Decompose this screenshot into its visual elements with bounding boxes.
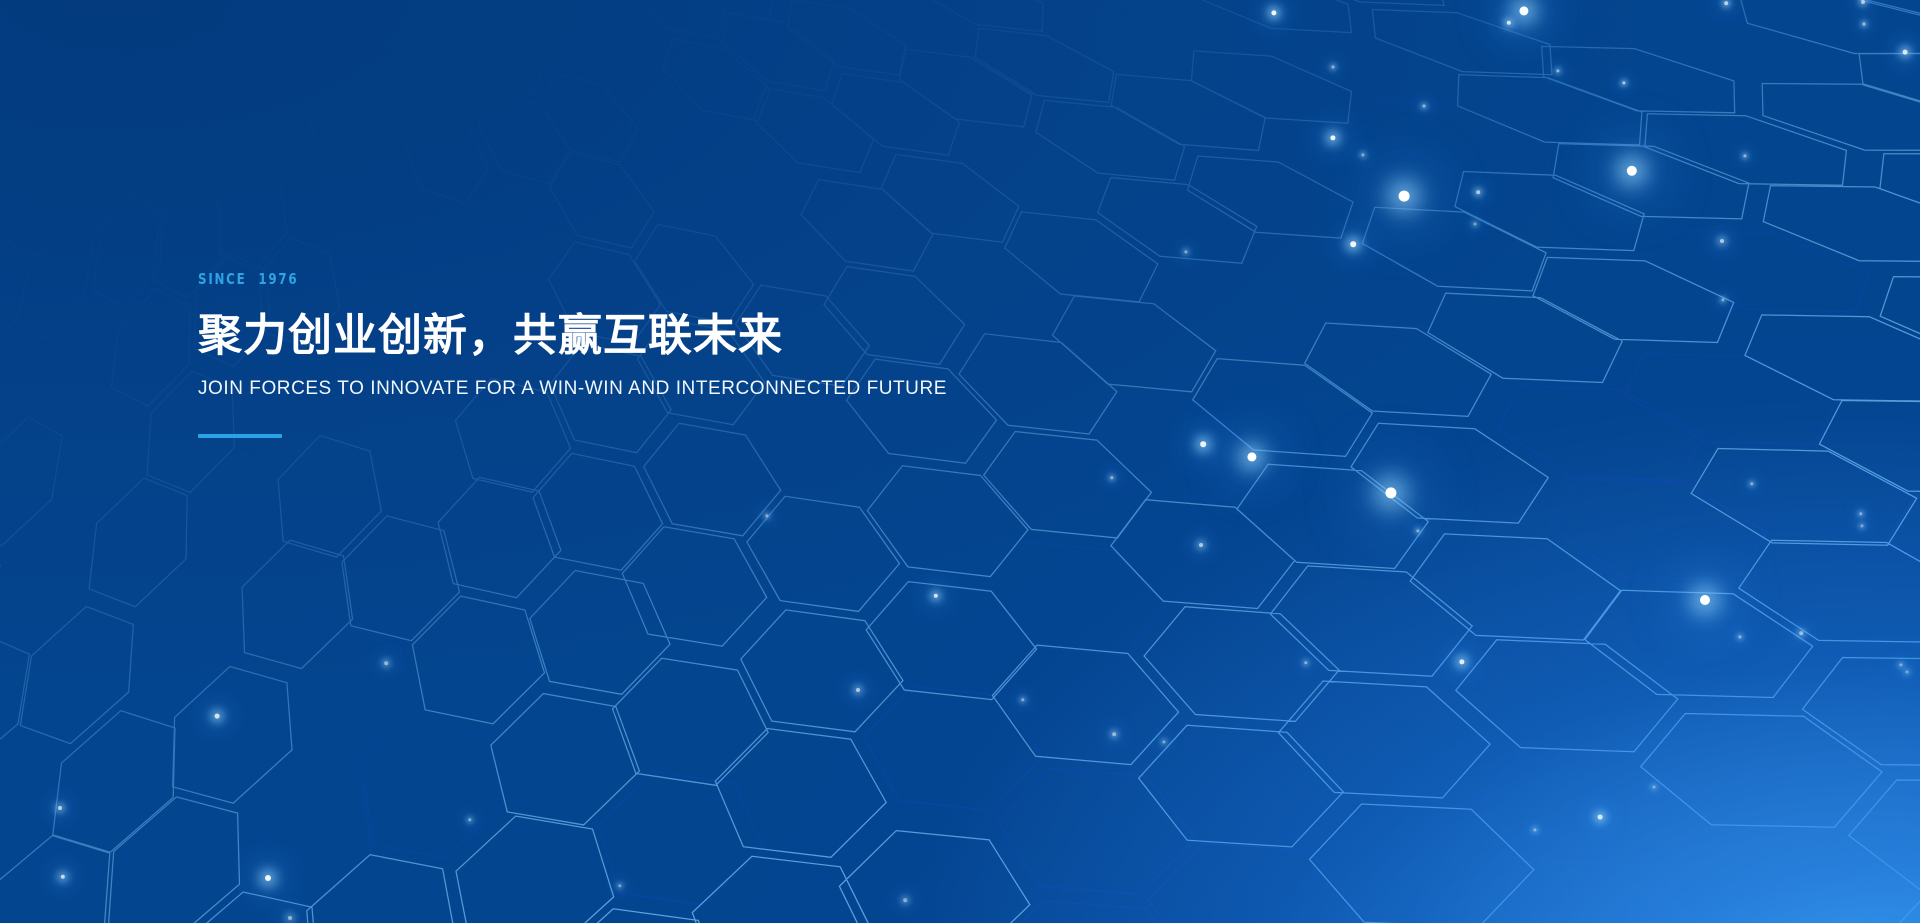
since-eyebrow: SINCE 1976: [198, 272, 1166, 287]
background-vignette: [0, 0, 1920, 923]
page-title: 聚力创业创新，共赢互联未来: [198, 313, 1298, 359]
hero-copy: SINCE 1976 聚力创业创新，共赢互联未来 JOIN FORCES TO …: [198, 272, 1298, 438]
page-subtitle: JOIN FORCES TO INNOVATE FOR A WIN-WIN AN…: [198, 379, 1298, 400]
accent-divider: [198, 434, 282, 438]
hero-banner: SINCE 1976 聚力创业创新，共赢互联未来 JOIN FORCES TO …: [0, 0, 1920, 923]
